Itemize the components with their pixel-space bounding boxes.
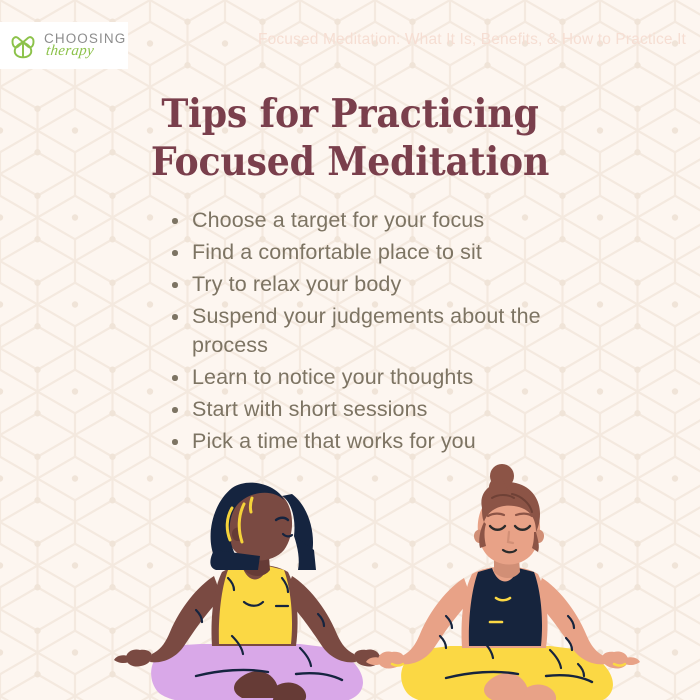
logo-wordmark: CHOOSING therapy: [44, 32, 126, 59]
meditating-woman-right: [366, 464, 640, 700]
meditating-woman-left: [114, 483, 392, 700]
page-title-line-1: Tips for Practicing: [25, 90, 676, 138]
list-item: Choose a target for your focus: [168, 206, 568, 235]
list-item-label: Find a comfortable place to sit: [192, 240, 482, 264]
bullet-icon: [172, 375, 178, 381]
bullet-icon: [172, 218, 178, 224]
list-item: Learn to notice your thoughts: [168, 363, 568, 392]
page-title-line-2: Focused Meditation: [25, 138, 676, 186]
article-title: Focused Meditation: What It Is, Benefits…: [258, 31, 686, 49]
list-item-label: Try to relax your body: [192, 272, 401, 296]
list-item: Find a comfortable place to sit: [168, 238, 568, 267]
list-item-label: Learn to notice your thoughts: [192, 365, 473, 389]
list-item-label: Start with short sessions: [192, 397, 428, 421]
brand-logo[interactable]: CHOOSING therapy: [0, 22, 128, 69]
meditation-illustration: [0, 450, 700, 700]
list-item: Try to relax your body: [168, 270, 568, 299]
list-item: Suspend your judgements about the proces…: [168, 302, 568, 360]
lotus-leaf-icon: [8, 31, 38, 61]
list-item-label: Suspend your judgements about the proces…: [192, 304, 541, 357]
bullet-icon: [172, 407, 178, 413]
infographic-canvas: CHOOSING therapy Focused Meditation: Wha…: [0, 0, 700, 700]
bullet-icon: [172, 314, 178, 320]
logo-secondary-text: therapy: [45, 44, 127, 59]
page-title: Tips for Practicing Focused Meditation: [25, 90, 676, 186]
bullet-icon: [172, 250, 178, 256]
bullet-icon: [172, 439, 178, 445]
list-item-label: Choose a target for your focus: [192, 208, 484, 232]
list-item: Start with short sessions: [168, 395, 568, 424]
bullet-icon: [172, 282, 178, 288]
tips-list: Choose a target for your focus Find a co…: [168, 206, 568, 459]
